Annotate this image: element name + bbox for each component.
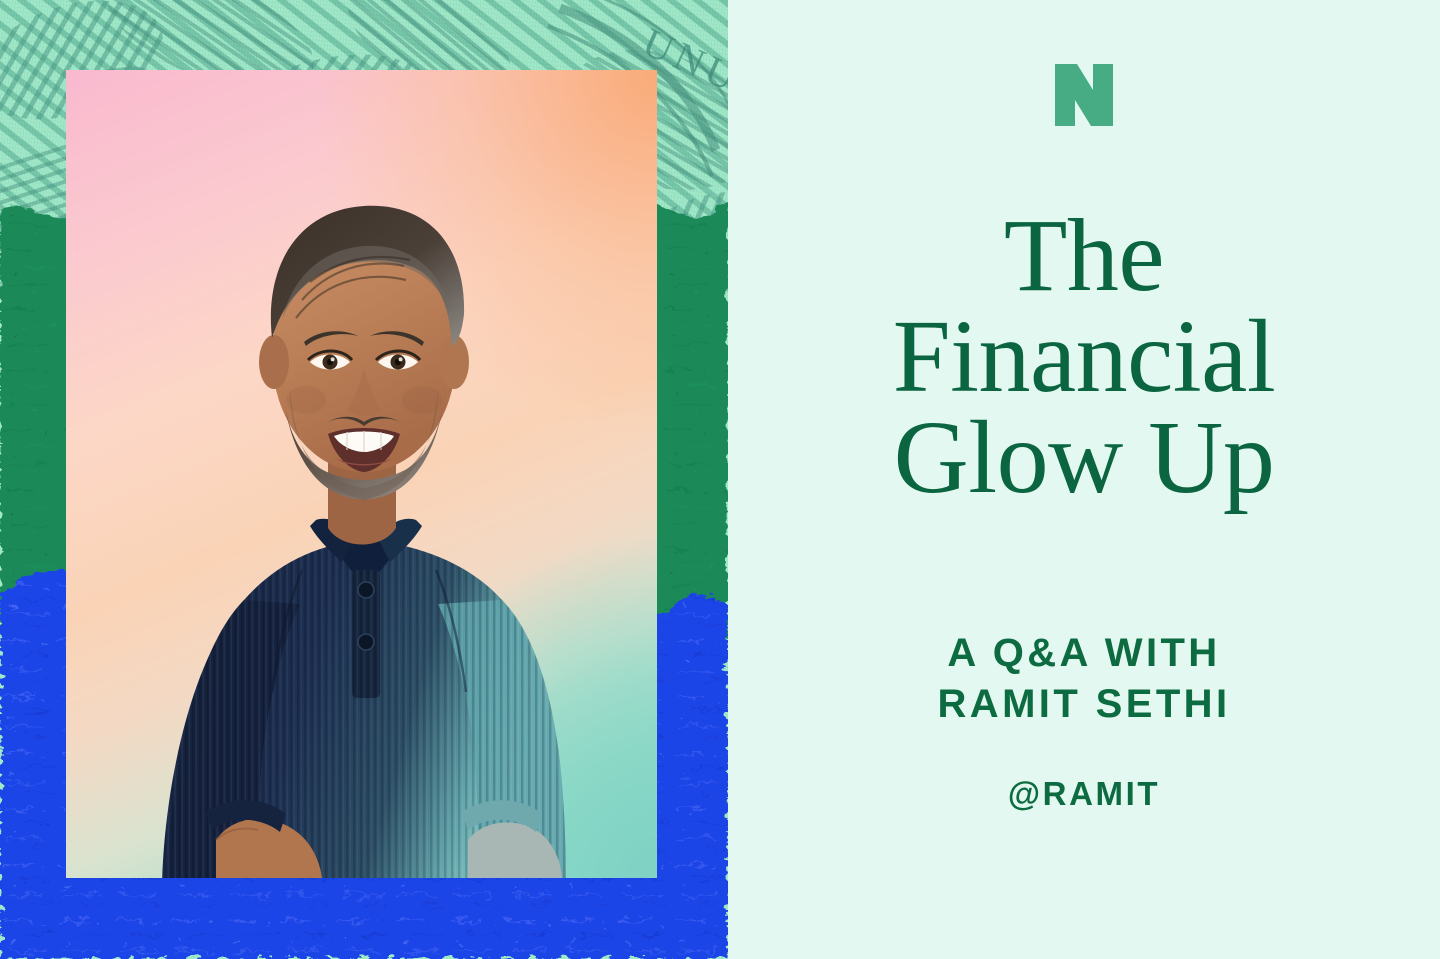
subtitle-line-2: RAMIT SETHI <box>938 679 1231 730</box>
content-panel: The Financial Glow Up A Q&A WITH RAMIT S… <box>728 0 1440 959</box>
sweater-button-bottom <box>358 634 374 650</box>
collage-panel: UNU <box>0 0 728 959</box>
social-handle: @RAMIT <box>1008 775 1160 813</box>
promo-graphic: UNU <box>0 0 1440 959</box>
headline-line-3: Glow Up <box>893 408 1276 509</box>
headline-line-2: Financial <box>893 307 1276 408</box>
sweater-button-top <box>358 582 374 598</box>
logo-shape <box>1047 58 1121 132</box>
subtitle-line-1: A Q&A WITH <box>938 628 1231 679</box>
portrait-photo <box>66 70 657 878</box>
subtitle: A Q&A WITH RAMIT SETHI <box>938 628 1231 730</box>
portrait-figure <box>66 70 657 878</box>
page-title: The Financial Glow Up <box>893 206 1276 509</box>
headline-line-1: The <box>893 206 1276 307</box>
naver-n-logo-icon <box>1047 58 1121 132</box>
